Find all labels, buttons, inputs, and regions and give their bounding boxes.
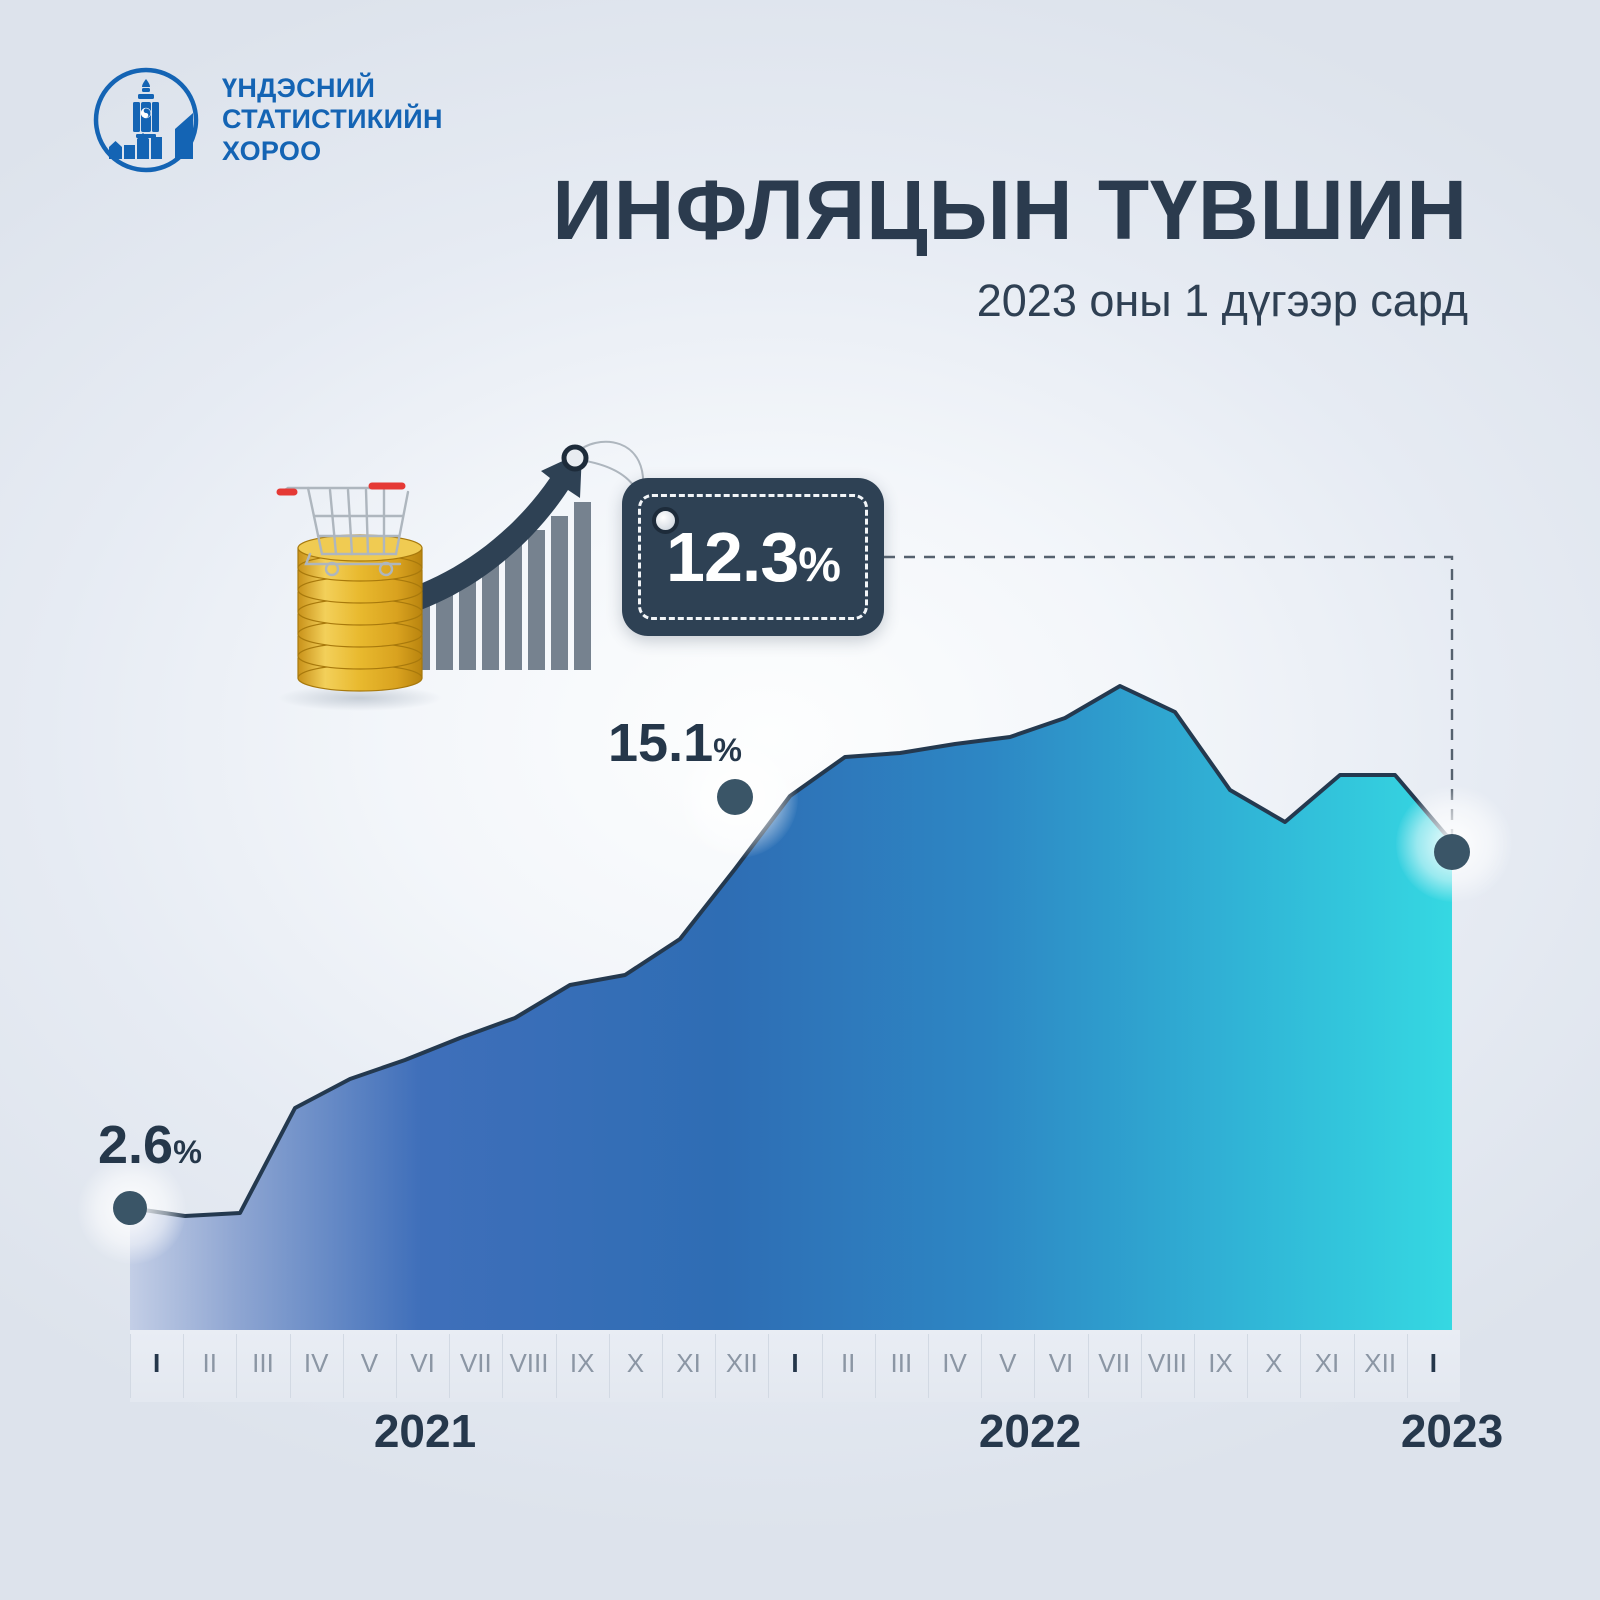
axis-tick-5: V <box>343 1330 396 1402</box>
axis-tick-16: IV <box>928 1330 981 1402</box>
tick-label: XI <box>662 1350 715 1376</box>
mid-data-label: 15.1% <box>608 712 742 774</box>
tick-label: V <box>981 1350 1034 1376</box>
axis-tick-2: II <box>183 1330 236 1402</box>
axis-tick-6: VI <box>396 1330 449 1402</box>
tick-label: X <box>609 1350 662 1376</box>
tick-label: II <box>183 1350 236 1376</box>
start-value: 2.6 <box>98 1115 173 1175</box>
axis-tick-4: IV <box>290 1330 343 1402</box>
year-label-2021: 2021 <box>295 1408 555 1454</box>
tick-label: IX <box>1194 1350 1247 1376</box>
tick-label: XII <box>715 1350 768 1376</box>
tick-label: VI <box>396 1350 449 1376</box>
tick-label: IV <box>290 1350 343 1376</box>
axis-tick-22: X <box>1247 1330 1300 1402</box>
tick-label: XII <box>1354 1350 1407 1376</box>
mid-unit: % <box>713 732 742 768</box>
axis-tick-23: XI <box>1300 1330 1353 1402</box>
tick-label: III <box>875 1350 928 1376</box>
axis-tick-3: III <box>236 1330 289 1402</box>
tick-label: VIII <box>1141 1350 1194 1376</box>
axis-tick-19: VII <box>1088 1330 1141 1402</box>
tick-label: I <box>768 1350 821 1376</box>
axis-tick-17: V <box>981 1330 1034 1402</box>
tick-label: X <box>1247 1350 1300 1376</box>
tick-label: VII <box>449 1350 502 1376</box>
start-data-label: 2.6% <box>98 1114 202 1176</box>
axis-tick-8: VIII <box>502 1330 555 1402</box>
tick-label: IV <box>928 1350 981 1376</box>
axis-tick-9: IX <box>556 1330 609 1402</box>
year-label-2023: 2023 <box>1322 1408 1582 1454</box>
axis-tick-11: XI <box>662 1330 715 1402</box>
axis-tick-13: I <box>768 1330 821 1402</box>
axis-tick-24: XII <box>1354 1330 1407 1402</box>
axis-tick-7: VII <box>449 1330 502 1402</box>
axis-tick-20: VIII <box>1141 1330 1194 1402</box>
axis-tick-25: I <box>1407 1330 1460 1402</box>
tick-label: II <box>822 1350 875 1376</box>
tick-label: I <box>130 1350 183 1376</box>
year-label-2022: 2022 <box>900 1408 1160 1454</box>
tick-label: VII <box>1088 1350 1141 1376</box>
tick-label: XI <box>1300 1350 1353 1376</box>
axis-tick-14: II <box>822 1330 875 1402</box>
mid-value: 15.1 <box>608 713 713 773</box>
tick-label: V <box>343 1350 396 1376</box>
axis-tick-10: X <box>609 1330 662 1402</box>
axis-tick-12: XII <box>715 1330 768 1402</box>
axis-tick-21: IX <box>1194 1330 1247 1402</box>
tick-label: VIII <box>502 1350 555 1376</box>
x-axis: IIIIIIIVVVIVIIVIIIIXXXIXIIIIIIIIIVVVIVII… <box>130 1330 1460 1402</box>
tick-label: VI <box>1034 1350 1087 1376</box>
tick-label: III <box>236 1350 289 1376</box>
tick-label: I <box>1407 1350 1460 1376</box>
start-unit: % <box>173 1134 202 1170</box>
area-fill <box>130 686 1452 1330</box>
axis-tick-15: III <box>875 1330 928 1402</box>
axis-tick-1: I <box>130 1330 183 1402</box>
axis-tick-18: VI <box>1034 1330 1087 1402</box>
tick-label: IX <box>556 1350 609 1376</box>
